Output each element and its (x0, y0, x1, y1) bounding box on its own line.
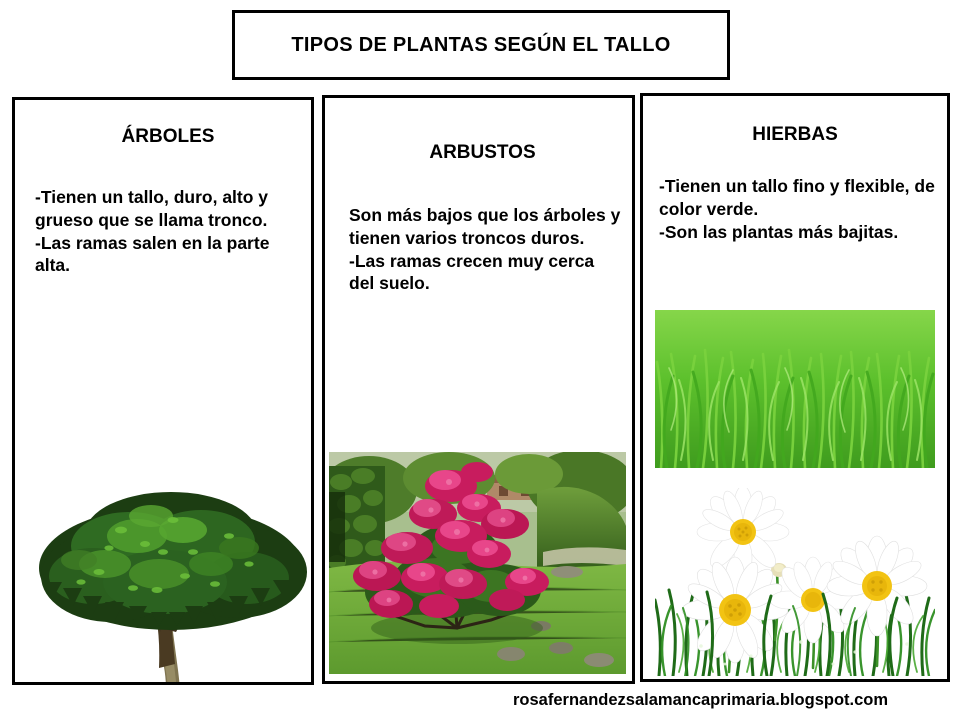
footer-credit: rosafernandezsalamancaprimaria.blogspot.… (513, 691, 888, 710)
title-box: TIPOS DE PLANTAS SEGÚN EL TALLO (232, 10, 730, 80)
flowering-shrub-photo (329, 452, 626, 674)
body-hierbas: -Tienen un tallo fino y flexible, de col… (643, 175, 947, 243)
grass-photo (655, 310, 935, 468)
panel-arboles: ÁRBOLES -Tienen un tallo, duro, alto y g… (12, 97, 314, 685)
heading-arboles: ÁRBOLES (15, 126, 311, 148)
heading-hierbas: HIERBAS (643, 124, 947, 146)
tree-photo (33, 472, 314, 685)
body-arbustos: Son más bajos que los árboles y tienen v… (325, 204, 632, 295)
heading-arbustos: ARBUSTOS (325, 142, 632, 164)
page-title: TIPOS DE PLANTAS SEGÚN EL TALLO (291, 34, 670, 57)
daisies-photo (655, 488, 935, 676)
body-arboles: -Tienen un tallo, duro, alto y grueso qu… (15, 186, 311, 277)
